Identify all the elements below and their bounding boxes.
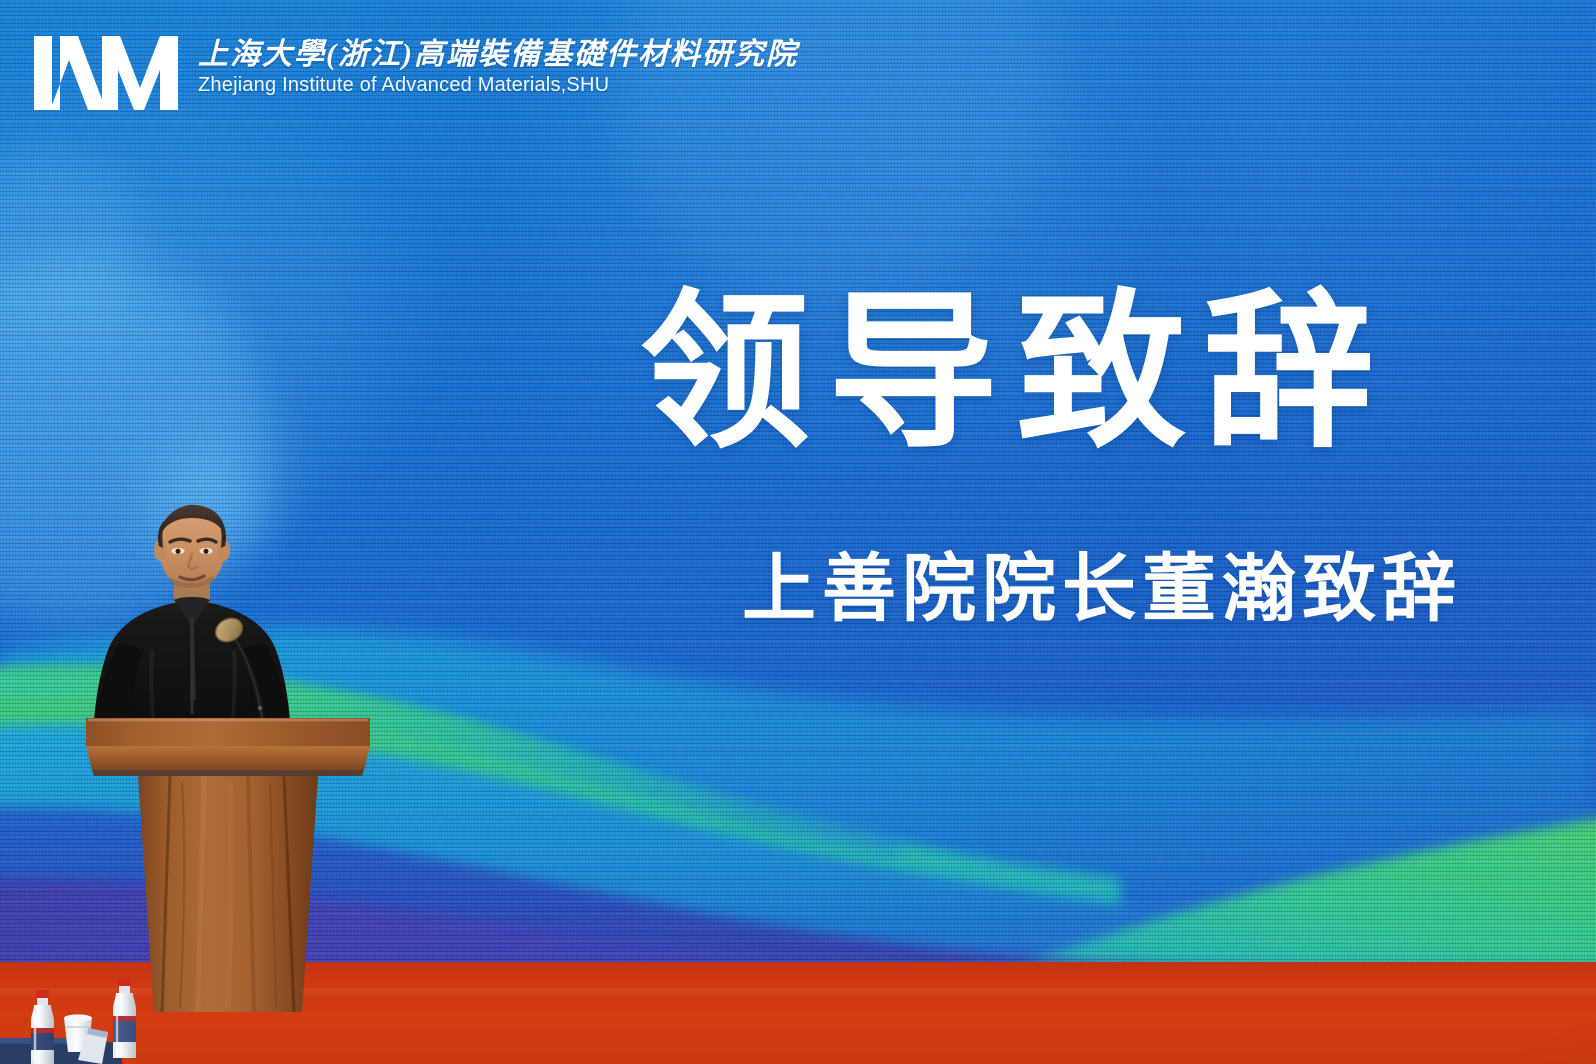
iam-monogram-icon	[30, 32, 182, 114]
institute-logo-lockup: 上海大學(浙江)高端裝備基礎件材料研究院 Zhejiang Institute …	[30, 32, 798, 114]
foreground-table-items	[0, 978, 300, 1064]
institute-name-en: Zhejiang Institute of Advanced Materials…	[198, 74, 798, 97]
logo-text-block: 上海大學(浙江)高端裝備基礎件材料研究院 Zhejiang Institute …	[198, 32, 798, 97]
stage-photo: 上海大學(浙江)高端裝備基礎件材料研究院 Zhejiang Institute …	[0, 0, 1596, 1064]
institute-name-cn: 上海大學(浙江)高端裝備基礎件材料研究院	[198, 38, 798, 72]
slide-title: 领导致辞	[640, 288, 1392, 458]
podium-lectern	[78, 712, 378, 1012]
slide-subtitle: 上善院院长董瀚致辞	[742, 552, 1462, 626]
